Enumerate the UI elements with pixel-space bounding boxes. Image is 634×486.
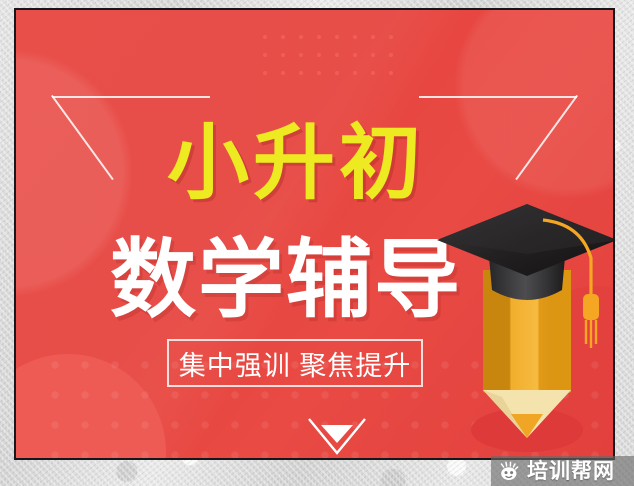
watermark: 培训帮网	[491, 456, 634, 486]
watermark-text: 培训帮网	[527, 461, 615, 482]
subtitle-box: 集中强训 聚焦提升	[167, 339, 423, 387]
bracket-right-horizontal	[419, 96, 577, 98]
graduation-cap-tassel-knot	[583, 294, 599, 320]
graduation-cap-tassel-fringe	[586, 320, 596, 348]
subtitle-text: 集中强训 聚焦提升	[179, 344, 412, 383]
poster-frame: 小升初 数学辅导 集中强训 聚焦提升	[14, 8, 615, 460]
dot-grid-top	[252, 22, 400, 78]
graduation-cap-pencil-illustration	[431, 202, 613, 458]
smiley-sun-face-icon	[499, 461, 520, 482]
chevron-down-icon[interactable]	[307, 416, 367, 458]
poster-canvas: 小升初 数学辅导 集中强训 聚焦提升	[16, 10, 613, 458]
bracket-left-horizontal	[52, 96, 210, 98]
headline-primary: 小升初	[16, 118, 576, 210]
